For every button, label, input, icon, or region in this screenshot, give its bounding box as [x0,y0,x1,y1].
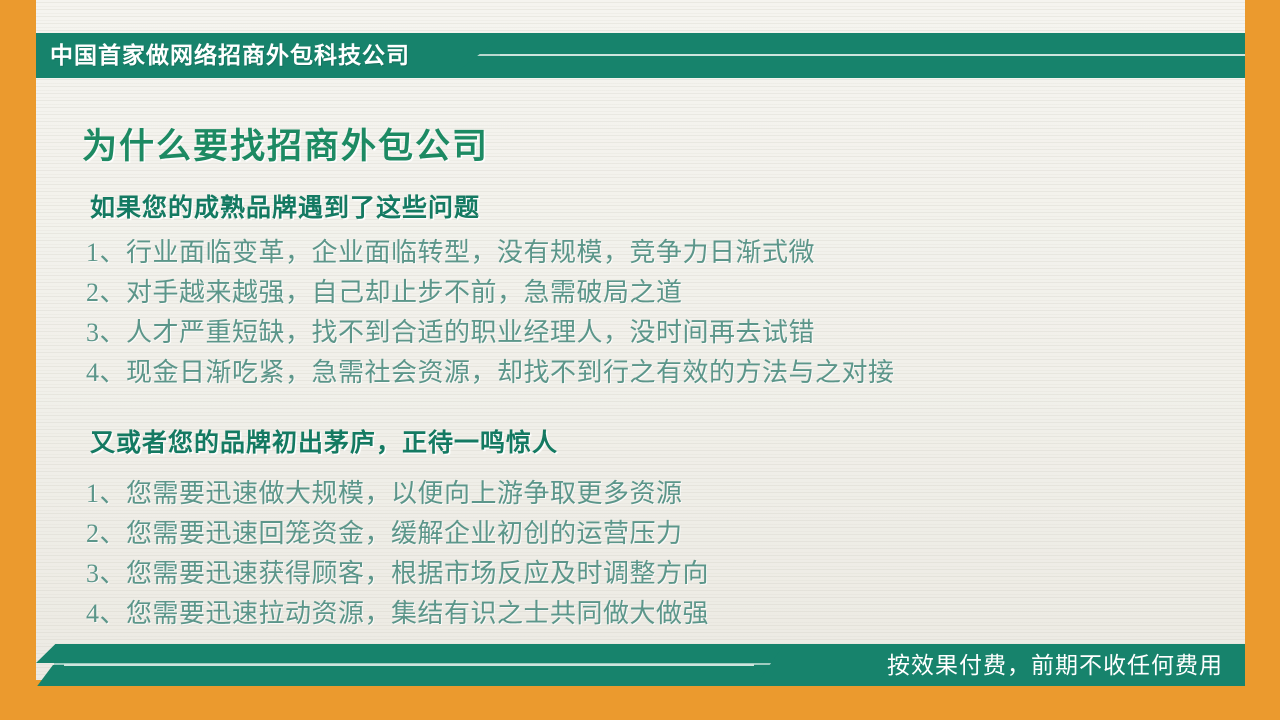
section-list-problems: 1、行业面临变革，企业面临转型，没有规模，竞争力日渐式微 2、对手越来越强，自己… [86,233,895,393]
header-banner: 中国首家做网络招商外包科技公司 [36,33,1245,78]
section-list-newbrand: 1、您需要迅速做大规模，以便向上游争取更多资源 2、您需要迅速回笼资金，缓解企业… [86,474,709,634]
footer-banner: 按效果付费，前期不收任何费用 [36,644,1245,686]
page-title: 为什么要找招商外包公司 [82,118,489,169]
footer-tagline-text: 按效果付费，前期不收任何费用 [887,644,1223,686]
list-item: 2、对手越来越强，自己却止步不前，急需破局之道 [86,273,895,313]
section-heading-problems: 如果您的成熟品牌遇到了这些问题 [90,188,480,224]
list-item: 1、您需要迅速做大规模，以便向上游争取更多资源 [86,474,709,514]
slide-root: 中国首家做网络招商外包科技公司 为什么要找招商外包公司 如果您的成熟品牌遇到了这… [0,0,1280,720]
list-item: 3、您需要迅速获得顾客，根据市场反应及时调整方向 [86,554,709,594]
list-item: 2、您需要迅速回笼资金，缓解企业初创的运营压力 [86,514,709,554]
header-badge-text: 中国首家做网络招商外包科技公司 [50,33,410,78]
header-band-rule [500,54,1245,56]
footer-band-rule [64,664,754,666]
list-item: 3、人才严重短缺，找不到合适的职业经理人，没时间再去试错 [86,313,895,353]
list-item: 4、您需要迅速拉动资源，集结有识之士共同做大做强 [86,594,709,634]
list-item: 4、现金日渐吃紧，急需社会资源，却找不到行之有效的方法与之对接 [86,353,895,393]
section-heading-newbrand: 又或者您的品牌初出茅庐，正待一鸣惊人 [90,423,558,459]
list-item: 1、行业面临变革，企业面临转型，没有规模，竞争力日渐式微 [86,233,895,273]
